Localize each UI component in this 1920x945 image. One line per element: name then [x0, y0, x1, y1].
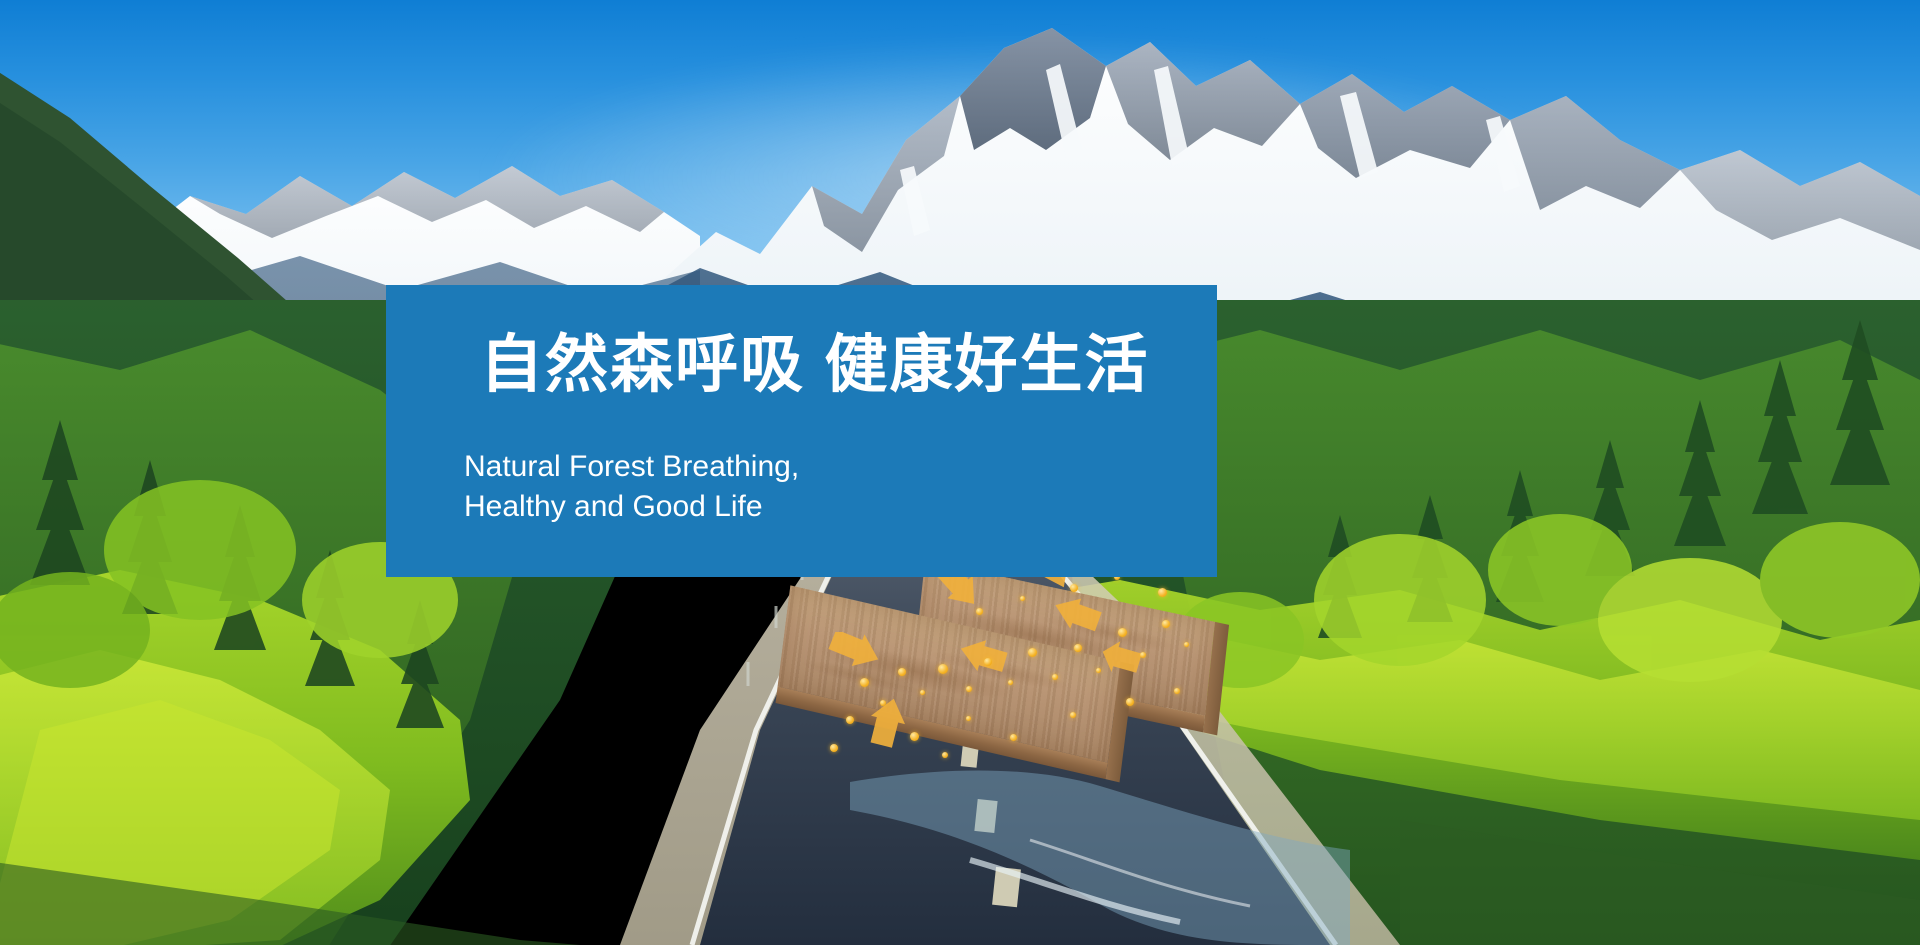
headline-panel: 自然森呼吸 健康好生活 Natural Forest Breathing, He…: [386, 285, 1217, 577]
subheadline-english: Natural Forest Breathing, Healthy and Go…: [464, 447, 799, 527]
headline-chinese: 自然森呼吸 健康好生活: [480, 330, 1150, 401]
banner-stage: 自然森呼吸 健康好生活 Natural Forest Breathing, He…: [0, 0, 1920, 945]
mountain-stream: [850, 690, 1350, 945]
